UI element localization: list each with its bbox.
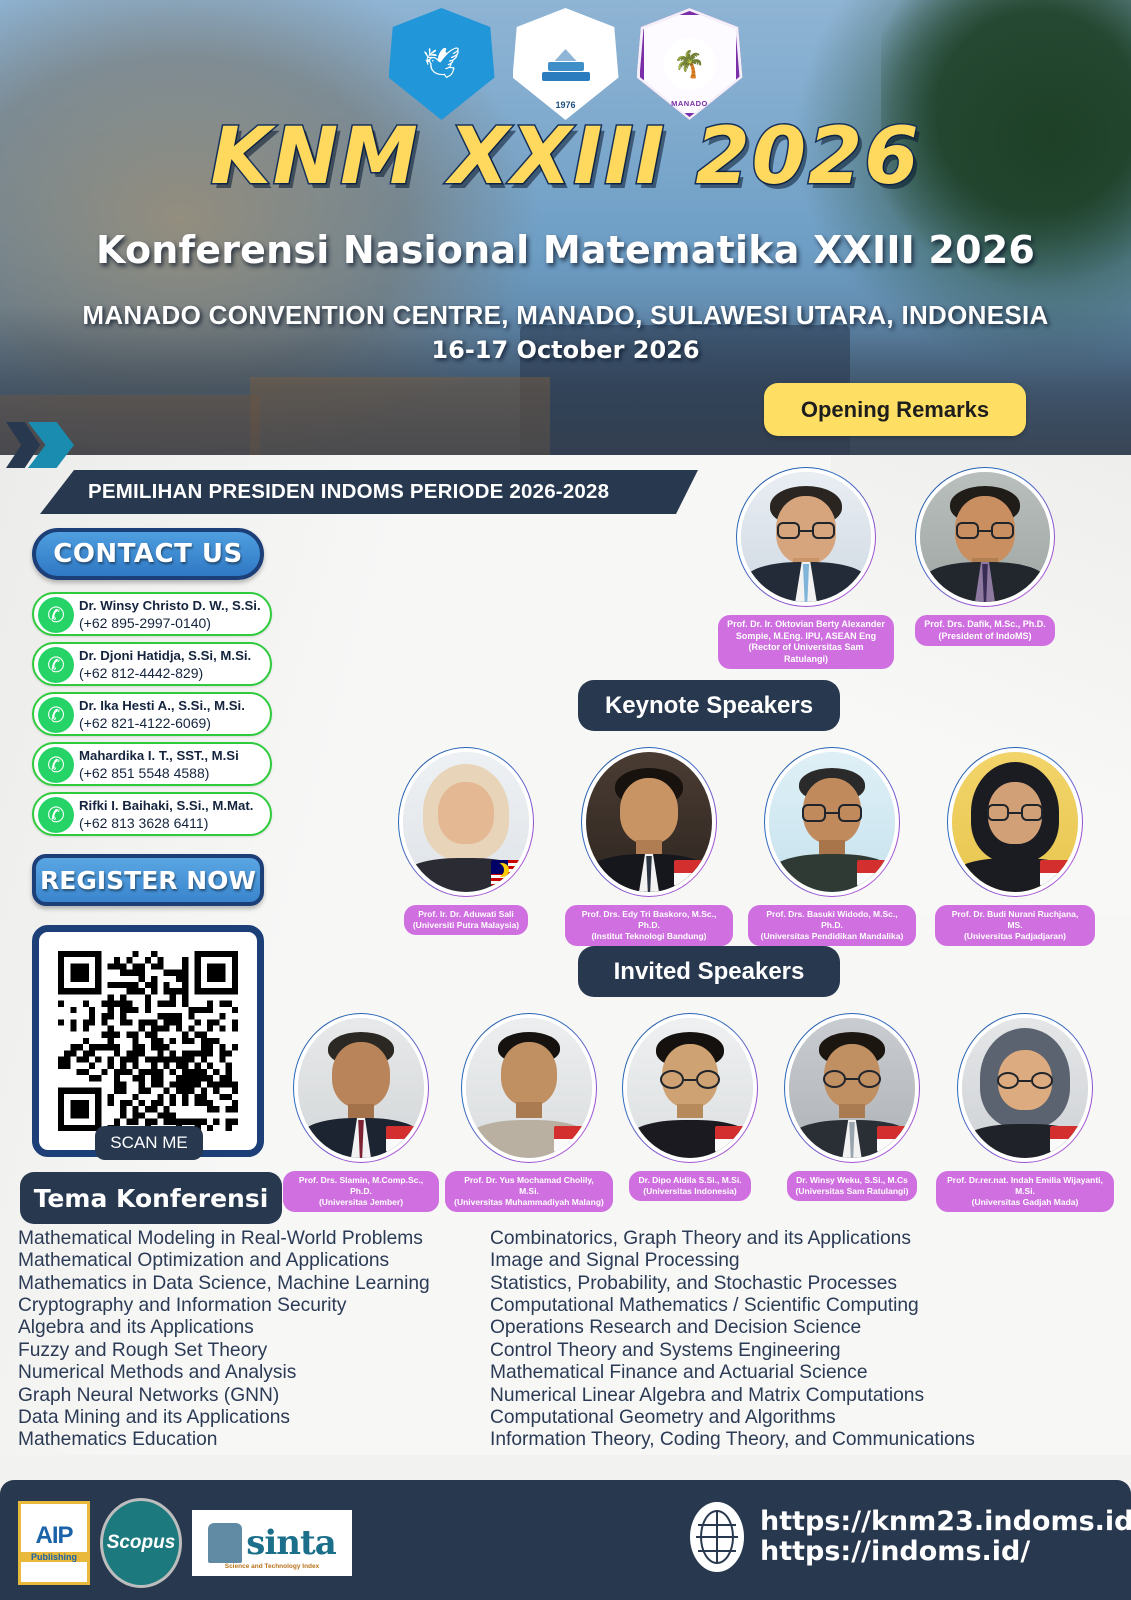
speaker-name: Prof. Drs. Edy Tri Baskoro, M.Sc., Ph.D. <box>582 909 717 930</box>
speaker-affiliation: (Universitas Padjadjaran) <box>964 931 1066 941</box>
speaker-affiliation: (Universitas Indonesia) <box>643 1186 737 1196</box>
theme-item: Numerical Linear Algebra and Matrix Comp… <box>490 1385 1050 1407</box>
footer-logos: AIP Publishing Scopus sinta Science and … <box>18 1498 352 1588</box>
theme-item: Information Theory, Coding Theory, and C… <box>490 1429 1050 1451</box>
sinta-sub: Science and Technology Index <box>192 1563 352 1570</box>
speaker-caption: Prof. Dr. Budi Nurani Ruchjana, MS. (Uni… <box>935 905 1095 946</box>
speaker-name: Dr. Winsy Weku, S.Si., M.Cs <box>796 1175 908 1185</box>
sinta-text: sinta <box>246 1523 336 1563</box>
theme-item: Combinatorics, Graph Theory and its Appl… <box>490 1228 1050 1250</box>
keynote-speaker-0: Prof. Ir. Dr. Aduwati Sali (Universiti P… <box>392 752 540 935</box>
keynote-speaker-1: Prof. Drs. Edy Tri Baskoro, M.Sc., Ph.D.… <box>565 752 733 946</box>
themes-title: Tema Konferensi <box>34 1184 269 1213</box>
contact-item-2[interactable]: ✆ Dr. Ika Hesti A., S.Si., M.Si. (+62 82… <box>32 692 272 736</box>
scopus-logo: Scopus <box>100 1498 182 1588</box>
invited-speaker-0: Prof. Drs. Slamin, M.Comp.Sc., Ph.D. (Un… <box>283 1018 439 1212</box>
theme-item: Algebra and its Applications <box>18 1317 488 1339</box>
speaker-caption: Dr. Dipo Aldila S.Si., M.Si. (Universita… <box>629 1171 750 1201</box>
theme-item: Numerical Methods and Analysis <box>18 1362 488 1384</box>
theme-item: Mathematics Education <box>18 1429 488 1451</box>
themes-left-column: Mathematical Modeling in Real-World Prob… <box>18 1228 488 1452</box>
opening-speaker-1: Prof. Drs. Dafik, M.Sc., Ph.D. (Presiden… <box>912 472 1058 646</box>
qr-code-canvas <box>58 951 238 1131</box>
contact-phone: (+62 812-4442-829) <box>79 665 203 681</box>
contact-phone: (+62 895-2997-0140) <box>79 615 211 631</box>
website-url-knm[interactable]: https://knm23.indoms.id/ <box>760 1507 1131 1537</box>
organizer-logos: 🕊 1976 🌴 MANADO <box>0 8 1131 120</box>
contact-name: Mahardika I. T., SST., M.Si <box>79 748 239 763</box>
indonesia-flag-icon <box>1050 1126 1086 1152</box>
register-now-button[interactable]: REGISTER NOW <box>32 854 264 906</box>
unsrat-city-label: MANADO <box>637 99 743 108</box>
whatsapp-icon: ✆ <box>38 797 74 833</box>
invited-speaker-1: Prof. Dr. Yus Mochamad Cholily, M.Si. (U… <box>445 1018 613 1212</box>
speaker-name: Prof. Dr.rer.nat. Indah Emilia Wijayanti… <box>947 1175 1103 1196</box>
dates-text: 16-17 October 2026 <box>0 336 1131 364</box>
speaker-name: Prof. Dr. Budi Nurani Ruchjana, MS. <box>952 909 1079 930</box>
whatsapp-icon: ✆ <box>38 697 74 733</box>
theme-item: Computational Mathematics / Scientific C… <box>490 1295 1050 1317</box>
speaker-name: Prof. Dr. Ir. Oktovian Berty Alexander S… <box>727 619 885 641</box>
speaker-affiliation: (Rector of Universitas Sam Ratulangi) <box>748 642 863 664</box>
themes-right-column: Combinatorics, Graph Theory and its Appl… <box>490 1228 1050 1452</box>
speaker-affiliation: (Universitas Pendidikan Mandalika) <box>761 931 904 941</box>
opening-remarks-title: Opening Remarks <box>764 383 1026 436</box>
opening-speaker-0: Prof. Dr. Ir. Oktovian Berty Alexander S… <box>718 472 894 669</box>
whatsapp-icon: ✆ <box>38 647 74 683</box>
scopus-text: Scopus <box>107 1532 176 1554</box>
contact-us-button[interactable]: CONTACT US <box>32 528 264 580</box>
speaker-caption: Prof. Drs. Dafik, M.Sc., Ph.D. (Presiden… <box>915 615 1055 646</box>
speaker-caption: Dr. Winsy Weku, S.Si., M.Cs (Universitas… <box>787 1171 918 1201</box>
theme-item: Operations Research and Decision Science <box>490 1317 1050 1339</box>
conference-poster: 🕊 1976 🌴 MANADO KNM XXIII 2026 Konferens… <box>0 0 1131 1600</box>
invited-speaker-3: Dr. Winsy Weku, S.Si., M.Cs (Universitas… <box>784 1018 920 1201</box>
scan-me-label: SCAN ME <box>95 1126 203 1160</box>
theme-item: Data Mining and its Applications <box>18 1407 488 1429</box>
himpunan-matematika-indonesia-logo: 1976 <box>513 8 619 120</box>
contact-phone: (+62 813 3628 6411) <box>79 815 208 831</box>
theme-item: Cryptography and Information Security <box>18 1295 488 1317</box>
sinta-logo: sinta Science and Technology Index <box>192 1510 352 1576</box>
indonesia-flag-icon <box>674 860 710 886</box>
speaker-affiliation: (Universitas Gadjah Mada) <box>972 1197 1079 1207</box>
theme-item: Mathematical Modeling in Real-World Prob… <box>18 1228 488 1250</box>
indonesia-flag-icon <box>877 1126 913 1152</box>
whatsapp-icon: ✆ <box>38 747 74 783</box>
register-now-label: REGISTER NOW <box>40 866 256 895</box>
speaker-name: Prof. Ir. Dr. Aduwati Sali <box>418 909 514 919</box>
contact-phone: (+62 821-4122-6069) <box>79 715 211 731</box>
contact-name: Dr. Winsy Christo D. W., S.Si. <box>79 598 261 613</box>
venue-text: MANADO CONVENTION CENTRE, MANADO, SULAWE… <box>0 300 1131 331</box>
election-banner-label: PEMILIHAN PRESIDEN INDOMS PERIODE 2026-2… <box>88 480 609 504</box>
contact-phone: (+62 851 5548 4588) <box>79 765 209 781</box>
contact-us-label: CONTACT US <box>53 539 243 569</box>
theme-item: Computational Geometry and Algorithms <box>490 1407 1050 1429</box>
keynote-speakers-title: Keynote Speakers <box>578 680 840 731</box>
indonesia-flag-icon <box>1040 860 1076 886</box>
tut-wuri-handayani-logo: 🕊 <box>389 8 495 120</box>
indonesia-flag-icon <box>554 1126 590 1152</box>
theme-item: Fuzzy and Rough Set Theory <box>18 1340 488 1362</box>
invited-speakers-title: Invited Speakers <box>578 946 840 997</box>
whatsapp-icon: ✆ <box>38 597 74 633</box>
speaker-affiliation: (Universitas Jember) <box>319 1197 403 1207</box>
footer: AIP Publishing Scopus sinta Science and … <box>0 1480 1131 1600</box>
theme-item: Mathematics in Data Science, Machine Lea… <box>18 1273 488 1295</box>
contact-item-0[interactable]: ✆ Dr. Winsy Christo D. W., S.Si. (+62 89… <box>32 592 272 636</box>
speaker-name: Prof. Drs. Dafik, M.Sc., Ph.D. <box>924 619 1046 629</box>
speaker-caption: Prof. Dr. Yus Mochamad Cholily, M.Si. (U… <box>445 1171 613 1212</box>
speaker-affiliation: (President of IndoMS) <box>939 631 1032 641</box>
contact-item-4[interactable]: ✆ Rifki I. Baihaki, S.Si., M.Mat. (+62 8… <box>32 792 272 836</box>
speaker-caption: Prof. Dr. Ir. Oktovian Berty Alexander S… <box>718 615 894 669</box>
speaker-caption: Prof. Dr.rer.nat. Indah Emilia Wijayanti… <box>936 1171 1114 1212</box>
speaker-caption: Prof. Drs. Basuki Widodo, M.Sc., Ph.D. (… <box>748 905 916 946</box>
qr-code[interactable] <box>32 925 264 1157</box>
page-title: KNM XXIII 2026 <box>0 112 1131 202</box>
aip-publishing-logo: AIP Publishing <box>18 1501 90 1585</box>
theme-item: Mathematical Optimization and Applicatio… <box>18 1250 488 1272</box>
invited-speaker-2: Dr. Dipo Aldila S.Si., M.Si. (Universita… <box>625 1018 755 1201</box>
website-url-indoms[interactable]: https://indoms.id/ <box>760 1537 1131 1567</box>
aip-text: AIP <box>35 1524 72 1548</box>
contact-item-1[interactable]: ✆ Dr. Djoni Hatidja, S.Si, M.Si. (+62 81… <box>32 642 272 686</box>
themes-title-pill: Tema Konferensi <box>20 1172 282 1224</box>
speaker-name: Prof. Dr. Yus Mochamad Cholily, M.Si. <box>464 1175 594 1196</box>
theme-item: Mathematical Finance and Actuarial Scien… <box>490 1362 1050 1384</box>
keynote-speaker-3: Prof. Dr. Budi Nurani Ruchjana, MS. (Uni… <box>935 752 1095 946</box>
sinta-mark-icon <box>208 1523 242 1563</box>
speaker-caption: Prof. Drs. Edy Tri Baskoro, M.Sc., Ph.D.… <box>565 905 733 946</box>
speaker-name: Prof. Drs. Basuki Widodo, M.Sc., Ph.D. <box>766 909 897 930</box>
invited-speaker-4: Prof. Dr.rer.nat. Indah Emilia Wijayanti… <box>936 1018 1114 1212</box>
speaker-caption: Prof. Ir. Dr. Aduwati Sali (Universiti P… <box>404 905 528 935</box>
malaysia-flag-icon <box>491 860 527 886</box>
contact-name: Dr. Djoni Hatidja, S.Si, M.Si. <box>79 648 251 663</box>
contact-name: Dr. Ika Hesti A., S.Si., M.Si. <box>79 698 245 713</box>
theme-item: Statistics, Probability, and Stochastic … <box>490 1273 1050 1295</box>
contact-item-3[interactable]: ✆ Mahardika I. T., SST., M.Si (+62 851 5… <box>32 742 272 786</box>
contact-name: Rifki I. Baihaki, S.Si., M.Mat. <box>79 798 253 813</box>
speaker-affiliation: (Universitas Muhammadiyah Malang) <box>454 1197 604 1207</box>
footer-website: https://knm23.indoms.id/ https://indoms.… <box>690 1502 1131 1572</box>
speaker-name: Dr. Dipo Aldila S.Si., M.Si. <box>638 1175 741 1185</box>
theme-item: Graph Neural Networks (GNN) <box>18 1385 488 1407</box>
indonesia-flag-icon <box>386 1126 422 1152</box>
speaker-name: Prof. Drs. Slamin, M.Comp.Sc., Ph.D. <box>299 1175 423 1196</box>
theme-item: Image and Signal Processing <box>490 1250 1050 1272</box>
aip-sub: Publishing <box>21 1552 87 1562</box>
conference-subtitle: Konferensi Nasional Matematika XXIII 202… <box>0 228 1131 272</box>
speaker-affiliation: (Institut Teknologi Bandung) <box>591 931 706 941</box>
speaker-affiliation: (Universitas Sam Ratulangi) <box>796 1186 909 1196</box>
globe-icon <box>690 1502 744 1572</box>
keynote-speaker-2: Prof. Drs. Basuki Widodo, M.Sc., Ph.D. (… <box>748 752 916 946</box>
universitas-sam-ratulangi-logo: 🌴 MANADO <box>637 8 743 120</box>
indonesia-flag-icon <box>715 1126 751 1152</box>
indonesia-flag-icon <box>857 860 893 886</box>
speaker-affiliation: (Universiti Putra Malaysia) <box>413 920 519 930</box>
theme-item: Control Theory and Systems Engineering <box>490 1340 1050 1362</box>
hmi-year: 1976 <box>513 100 619 110</box>
speaker-caption: Prof. Drs. Slamin, M.Comp.Sc., Ph.D. (Un… <box>283 1171 439 1212</box>
